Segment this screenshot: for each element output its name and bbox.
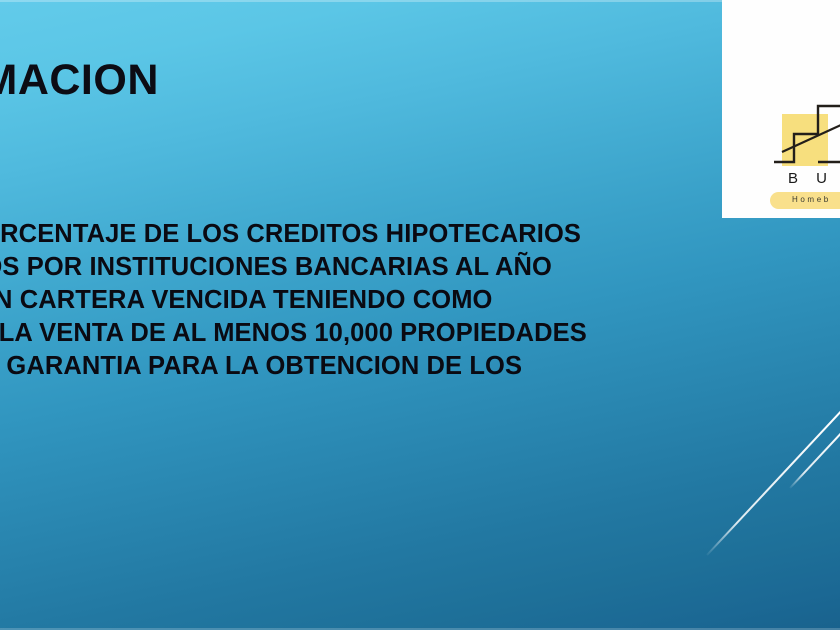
slide-body-text: LTO PORCENTAJE DE LOS CREDITOS HIPOTECAR… [0, 218, 807, 416]
body-line: LTADO LA VENTA DE AL MENOS 10,000 PROPIE… [0, 317, 807, 350]
logo-wordmark: B U [788, 170, 834, 187]
logo-tagline: Homeb [792, 195, 831, 204]
body-line: DITOS. [0, 383, 807, 416]
body-line: RGADOS POR INSTITUCIONES BANCARIAS AL AÑ… [0, 251, 807, 284]
building-icon [774, 96, 840, 176]
slide-title: ORMACION [0, 58, 536, 103]
body-line: LTO PORCENTAJE DE LOS CREDITOS HIPOTECAR… [0, 218, 807, 251]
logo-panel: B U Homeb [722, 0, 840, 218]
body-line: INAN EN CARTERA VENCIDA TENIENDO COMO [0, 284, 807, 317]
decorative-streak-long [706, 410, 840, 556]
presentation-slide: ORMACION LTO PORCENTAJE DE LOS CREDITOS … [0, 0, 840, 630]
decorative-streak-short [789, 420, 840, 489]
slide-top-edge [0, 0, 840, 2]
logo-graphic: B U Homeb [774, 96, 840, 216]
body-line: TAS EN GARANTIA PARA LA OBTENCION DE LOS [0, 350, 807, 383]
